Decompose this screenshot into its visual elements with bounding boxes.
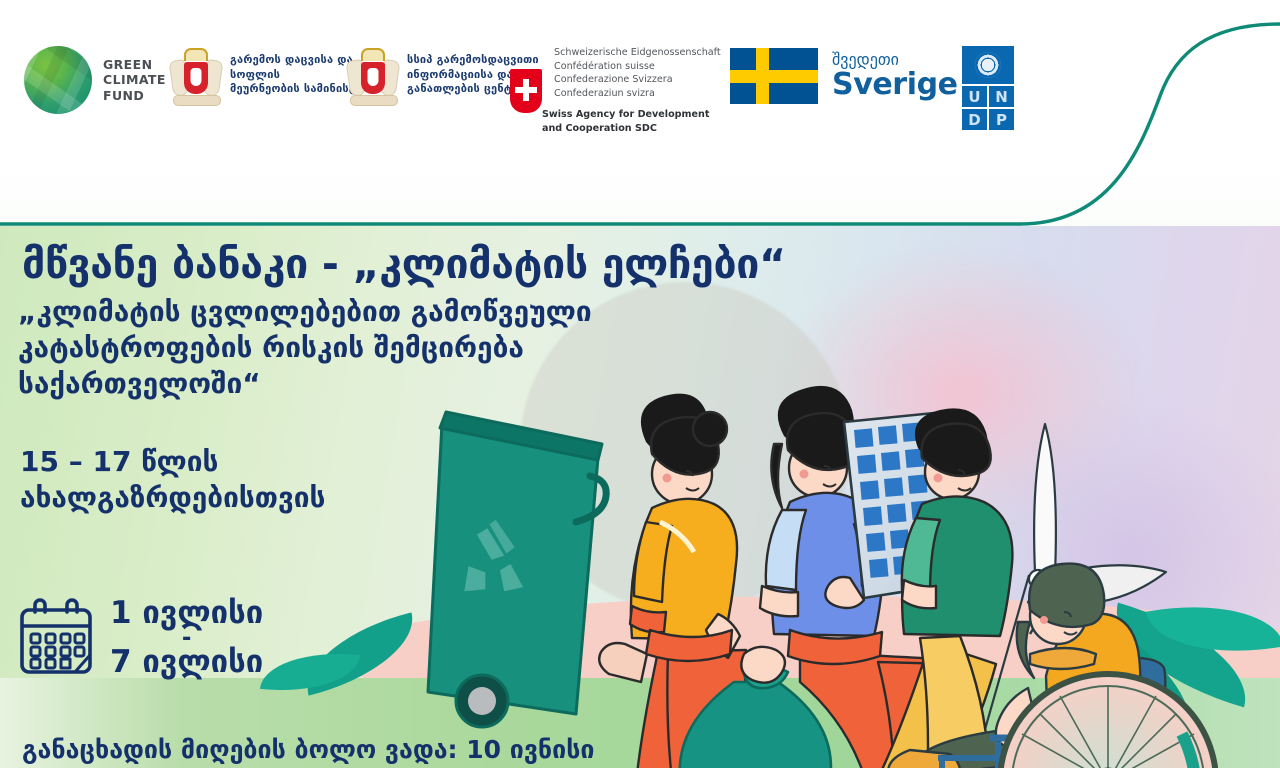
sdc-line-1: Schweizerische Eidgenossenschaft [554, 46, 721, 60]
page-title: მწვანე ბანაკი - „კლიმატის ელჩები“ [22, 240, 922, 288]
sdc-line-2: Confédération suisse [554, 60, 721, 74]
sweden-label-en: Sverige [832, 69, 958, 101]
age-line-2: ახალგაზრდებისთვის [20, 480, 640, 516]
undp-mark: U N D P [962, 46, 1014, 130]
sdc-line-3: Confederazione Svizzera [554, 73, 721, 87]
sdc-agency-line-2: and Cooperation SDC [542, 122, 721, 136]
date-range: 1 ივლისი - 7 ივლისი [110, 598, 263, 678]
georgia-coat-of-arms-icon [347, 44, 399, 106]
undp-letter-p: P [989, 109, 1014, 130]
globe-icon [24, 46, 92, 114]
gcf-wordmark: GREEN CLIMATE FUND [103, 57, 166, 103]
undp-letter-u: U [962, 86, 987, 107]
logo-swiss-sdc: Schweizerische Eidgenossenschaft Confédé… [510, 46, 721, 136]
sweden-flag-icon [730, 48, 818, 104]
poster-text-column: მწვანე ბანაკი - „კლიმატის ელჩები“ „კლიმა… [0, 222, 700, 768]
date-end: 7 ივლისი [110, 644, 263, 680]
georgia-coat-of-arms-icon [170, 44, 222, 106]
logo-header: GREEN CLIMATE FUND გარემოს დაცვისა და სო… [0, 0, 1280, 226]
undp-letter-n: N [989, 86, 1014, 107]
logo-sweden: შვედეთი Sverige [730, 48, 958, 104]
application-deadline: განაცხადის მიღების ბოლო ვადა: 10 ივნისი [0, 735, 1280, 764]
partner-logos: GREEN CLIMATE FUND გარემოს დაცვისა და სო… [0, 30, 1060, 140]
swiss-shield-icon [510, 69, 542, 113]
sdc-wordmark: Schweizerische Eidgenossenschaft Confédé… [542, 46, 721, 136]
camp-dates: 1 ივლისი - 7 ივლისი [18, 598, 263, 678]
calendar-icon [18, 598, 94, 678]
gcf-line-3: FUND [103, 88, 166, 103]
logo-undp: U N D P [962, 46, 1014, 130]
sdc-agency-line-1: Swiss Agency for Development [542, 108, 721, 122]
sweden-wordmark: შვედეთი Sverige [832, 51, 958, 100]
project-subtitle: „კლიმატის ცვლილებებით გამოწვეული კატასტრ… [18, 294, 678, 401]
logo-green-climate-fund: GREEN CLIMATE FUND [24, 46, 166, 114]
age-eligibility: 15 – 17 წლის ახალგაზრდებისთვის [20, 444, 640, 517]
age-line-1: 15 – 17 წლის [20, 444, 640, 480]
gcf-line-2: CLIMATE [103, 72, 166, 87]
undp-letter-d: D [962, 109, 987, 130]
gcf-line-1: GREEN [103, 57, 166, 72]
sdc-line-4: Confederaziun svizra [554, 87, 721, 101]
un-emblem-icon [962, 46, 1014, 86]
poster: მწვანე ბანაკი - „კლიმატის ელჩები“ „კლიმა… [0, 0, 1280, 768]
